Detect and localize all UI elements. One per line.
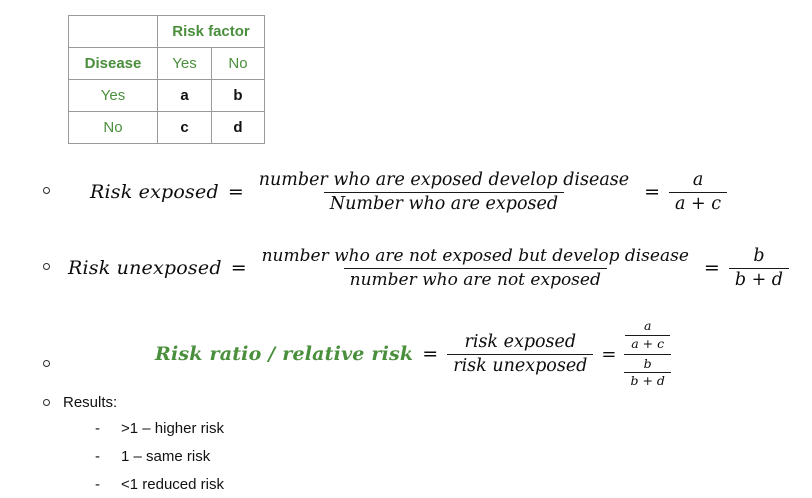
equation-lhs: Risk ratio / relative risk [155,343,413,365]
equals-sign-2: = [593,344,624,365]
fraction-denominator: Number who are exposed [324,192,564,215]
result-fraction: a a + c [669,170,727,214]
dash-marker: - [95,476,121,493]
bullet-icon [43,263,50,270]
table-cell-corner-blank [69,16,158,48]
table-row: No c d [69,112,265,144]
result-numerator: b [747,246,770,268]
equals-sign-2: = [695,257,729,279]
nested-top-numerator: a [638,319,657,335]
equation-risk-exposed: Risk exposed = number who are exposed de… [90,163,727,221]
list-item-label: 1 – same risk [121,448,210,465]
result-denominator: b + d [729,268,789,291]
nested-fraction-bottom: b b + d [624,354,670,390]
list-item: ->1 – higher risk [95,420,224,437]
equals-sign: = [222,257,256,279]
equals-sign: = [413,343,447,365]
bullet-icon [43,187,50,194]
list-item-label: <1 reduced risk [121,476,224,493]
result-denominator: a + c [669,192,727,215]
table-cell-b: b [212,80,265,112]
equation-risk-unexposed: Risk unexposed = number who are not expo… [68,239,789,297]
table-header-no: No [212,48,265,80]
table-row: Risk factor [69,16,265,48]
fraction-numerator: risk exposed [458,332,582,354]
formula-row-risk-ratio: Risk ratio / relative risk = risk expose… [0,318,812,390]
table-header-yes: Yes [158,48,212,80]
fraction-numerator: number who are exposed develop disease [253,170,635,192]
fraction-denominator: number who are not exposed [344,268,607,290]
table-row-label-yes: Yes [69,80,158,112]
equals-sign: = [219,181,253,203]
equals-sign-2: = [635,181,669,203]
main-fraction: number who are not exposed but develop d… [256,246,695,289]
results-title: Results: [63,394,117,411]
equation-risk-ratio: Risk ratio / relative risk = risk expose… [155,318,671,390]
result-fraction: b b + d [729,246,789,290]
fraction-denominator: risk unexposed [447,354,593,377]
table-header-disease: Disease [69,48,158,80]
nested-bottom-denominator: b + d [624,372,670,389]
bullet-icon [43,360,50,367]
fraction-numerator: number who are not exposed but develop d… [256,246,695,267]
result-numerator: a [687,170,709,192]
main-fraction: risk exposed risk unexposed [447,332,593,376]
table-cell-d: d [212,112,265,144]
nested-fraction: a a + c b b + d [624,319,670,389]
dash-marker: - [95,448,121,465]
nested-bottom-numerator: b [638,357,658,373]
list-item-label: >1 – higher risk [121,420,224,437]
list-item: -1 – same risk [95,448,210,465]
nested-top-denominator: a + c [625,335,670,352]
table-cell-a: a [158,80,212,112]
nested-fraction-top: a a + c [625,319,670,354]
bullet-icon [43,399,50,406]
formula-row-risk-unexposed: Risk unexposed = number who are not expo… [0,239,812,297]
table-row: Disease Yes No [69,48,265,80]
list-item: -<1 reduced risk [95,476,224,493]
table-cell-c: c [158,112,212,144]
equation-lhs: Risk unexposed [68,257,222,279]
table-row-label-no: No [69,112,158,144]
risk-factor-table: Risk factor Disease Yes No Yes a b No c … [68,15,265,144]
table-header-risk-factor: Risk factor [158,16,265,48]
table-row: Yes a b [69,80,265,112]
equation-lhs: Risk exposed [90,181,219,203]
formula-row-risk-exposed: Risk exposed = number who are exposed de… [0,163,812,221]
main-fraction: number who are exposed develop disease N… [253,170,635,214]
dash-marker: - [95,420,121,437]
